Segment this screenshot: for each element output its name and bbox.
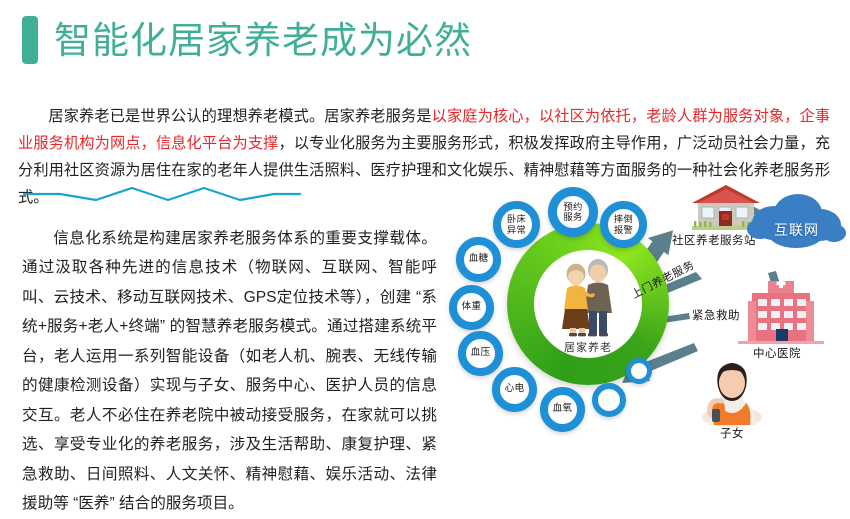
- sensor-bubble-label: 预约服务: [563, 202, 582, 222]
- intro-text-lead: 居家养老已是世界公认的理想养老模式。居家养老服务是: [48, 108, 431, 125]
- sensor-bubble-label: 血糖: [469, 254, 489, 264]
- decorative-bubble-9: [626, 358, 652, 384]
- sensor-bubble-4[interactable]: 体重: [449, 285, 494, 330]
- sensor-bubble-3[interactable]: 血糖: [456, 237, 501, 282]
- sensor-bubble-label: 血氧: [553, 404, 573, 414]
- decorative-bubble-8: [592, 383, 626, 417]
- sensor-bubble-2[interactable]: 摔倒报警: [600, 201, 647, 248]
- sensor-bubble-label: 血压: [471, 348, 491, 358]
- title-accent-bar: [22, 16, 38, 64]
- internet-cloud-label: 互联网: [774, 220, 819, 240]
- sensor-bubble-1[interactable]: 卧床异常: [493, 201, 540, 248]
- sensor-bubble-5[interactable]: 血压: [458, 331, 503, 376]
- sensor-bubble-label: 摔倒报警: [614, 214, 633, 234]
- home-elderly-care-diagram: 居家养老 预约服务卧床异常摔倒报警血糖体重血压心电血氧 社区养老服务站: [440, 175, 850, 458]
- slide-title-block: 智能化居家养老成为必然: [22, 14, 472, 66]
- sensor-bubble-6[interactable]: 心电: [492, 367, 537, 412]
- page-title: 智能化居家养老成为必然: [54, 22, 472, 59]
- children-photo-icon: [688, 357, 772, 427]
- sensor-bubble-label: 体重: [462, 302, 482, 312]
- sensor-bubble-label: 卧床异常: [507, 214, 526, 234]
- slide-root: 智能化居家养老成为必然 居家养老已是世界公认的理想养老模式。居家养老服务是以家庭…: [0, 0, 850, 458]
- children-label: 子女: [720, 425, 744, 441]
- sensor-bubble-0[interactable]: 预约服务: [548, 187, 598, 237]
- ring-center-label: 居家养老: [564, 339, 612, 355]
- body-paragraph: 信息化系统是构建居家养老服务体系的重要支撑载体。通过汲取各种先进的信息技术（物联…: [22, 224, 437, 519]
- zigzag-divider-icon: [22, 182, 302, 204]
- sensor-bubble-label: 心电: [505, 384, 525, 394]
- emergency-rescue-label: 紧急救助: [692, 307, 740, 323]
- elderly-couple-icon: [552, 257, 624, 337]
- central-hospital-icon: [738, 279, 824, 347]
- sensor-bubble-7[interactable]: 血氧: [540, 387, 585, 432]
